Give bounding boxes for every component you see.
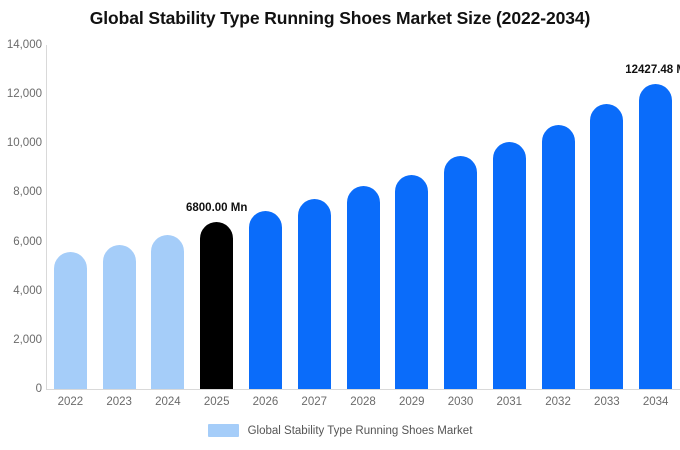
bar-value-label: 12427.48 M (612, 64, 680, 76)
y-axis-tick: 8,000 (0, 186, 42, 198)
bar-2022[interactable] (54, 45, 87, 389)
y-axis-tick: 12,000 (0, 88, 42, 100)
y-axis-tick: 0 (0, 383, 42, 395)
bar-2024[interactable] (151, 45, 184, 389)
bar-rect[interactable] (493, 142, 526, 389)
bar-2034[interactable] (639, 45, 672, 389)
bar-rect[interactable] (347, 186, 380, 389)
bar-2026[interactable] (249, 45, 282, 389)
bar-2023[interactable] (103, 45, 136, 389)
bar-2025[interactable] (200, 45, 233, 389)
bar-rect[interactable] (444, 156, 477, 389)
bar-rect[interactable] (200, 222, 233, 389)
x-axis-tick: 2034 (626, 396, 680, 408)
bar-value-label: 6800.00 Mn (173, 202, 261, 214)
bar-rect[interactable] (151, 235, 184, 389)
bar-rect[interactable] (590, 104, 623, 389)
bar-rect[interactable] (54, 252, 87, 389)
bar-rect[interactable] (103, 245, 136, 389)
bar-2027[interactable] (298, 45, 331, 389)
y-axis-tick-labels: 02,0004,0006,0008,00010,00012,00014,000 (0, 0, 42, 450)
y-axis-tick: 10,000 (0, 137, 42, 149)
bar-2032[interactable] (542, 45, 575, 389)
bar-rect[interactable] (542, 125, 575, 389)
bar-2028[interactable] (347, 45, 380, 389)
legend-swatch-icon (208, 424, 239, 437)
bar-2031[interactable] (493, 45, 526, 389)
y-axis-tick: 14,000 (0, 39, 42, 51)
chart-legend[interactable]: Global Stability Type Running Shoes Mark… (0, 424, 680, 437)
bar-rect[interactable] (298, 199, 331, 389)
y-axis-tick: 4,000 (0, 285, 42, 297)
bar-rect[interactable] (395, 175, 428, 389)
bar-2030[interactable] (444, 45, 477, 389)
bar-2033[interactable] (590, 45, 623, 389)
legend-label: Global Stability Type Running Shoes Mark… (248, 425, 473, 437)
bar-rect[interactable] (249, 211, 282, 389)
chart-title: Global Stability Type Running Shoes Mark… (0, 8, 680, 29)
bar-2029[interactable] (395, 45, 428, 389)
y-axis-tick: 2,000 (0, 334, 42, 346)
chart-container: Global Stability Type Running Shoes Mark… (0, 0, 680, 450)
bar-rect[interactable] (639, 84, 672, 389)
x-axis-line (46, 389, 680, 390)
y-axis-tick: 6,000 (0, 236, 42, 248)
plot-area (46, 45, 680, 389)
